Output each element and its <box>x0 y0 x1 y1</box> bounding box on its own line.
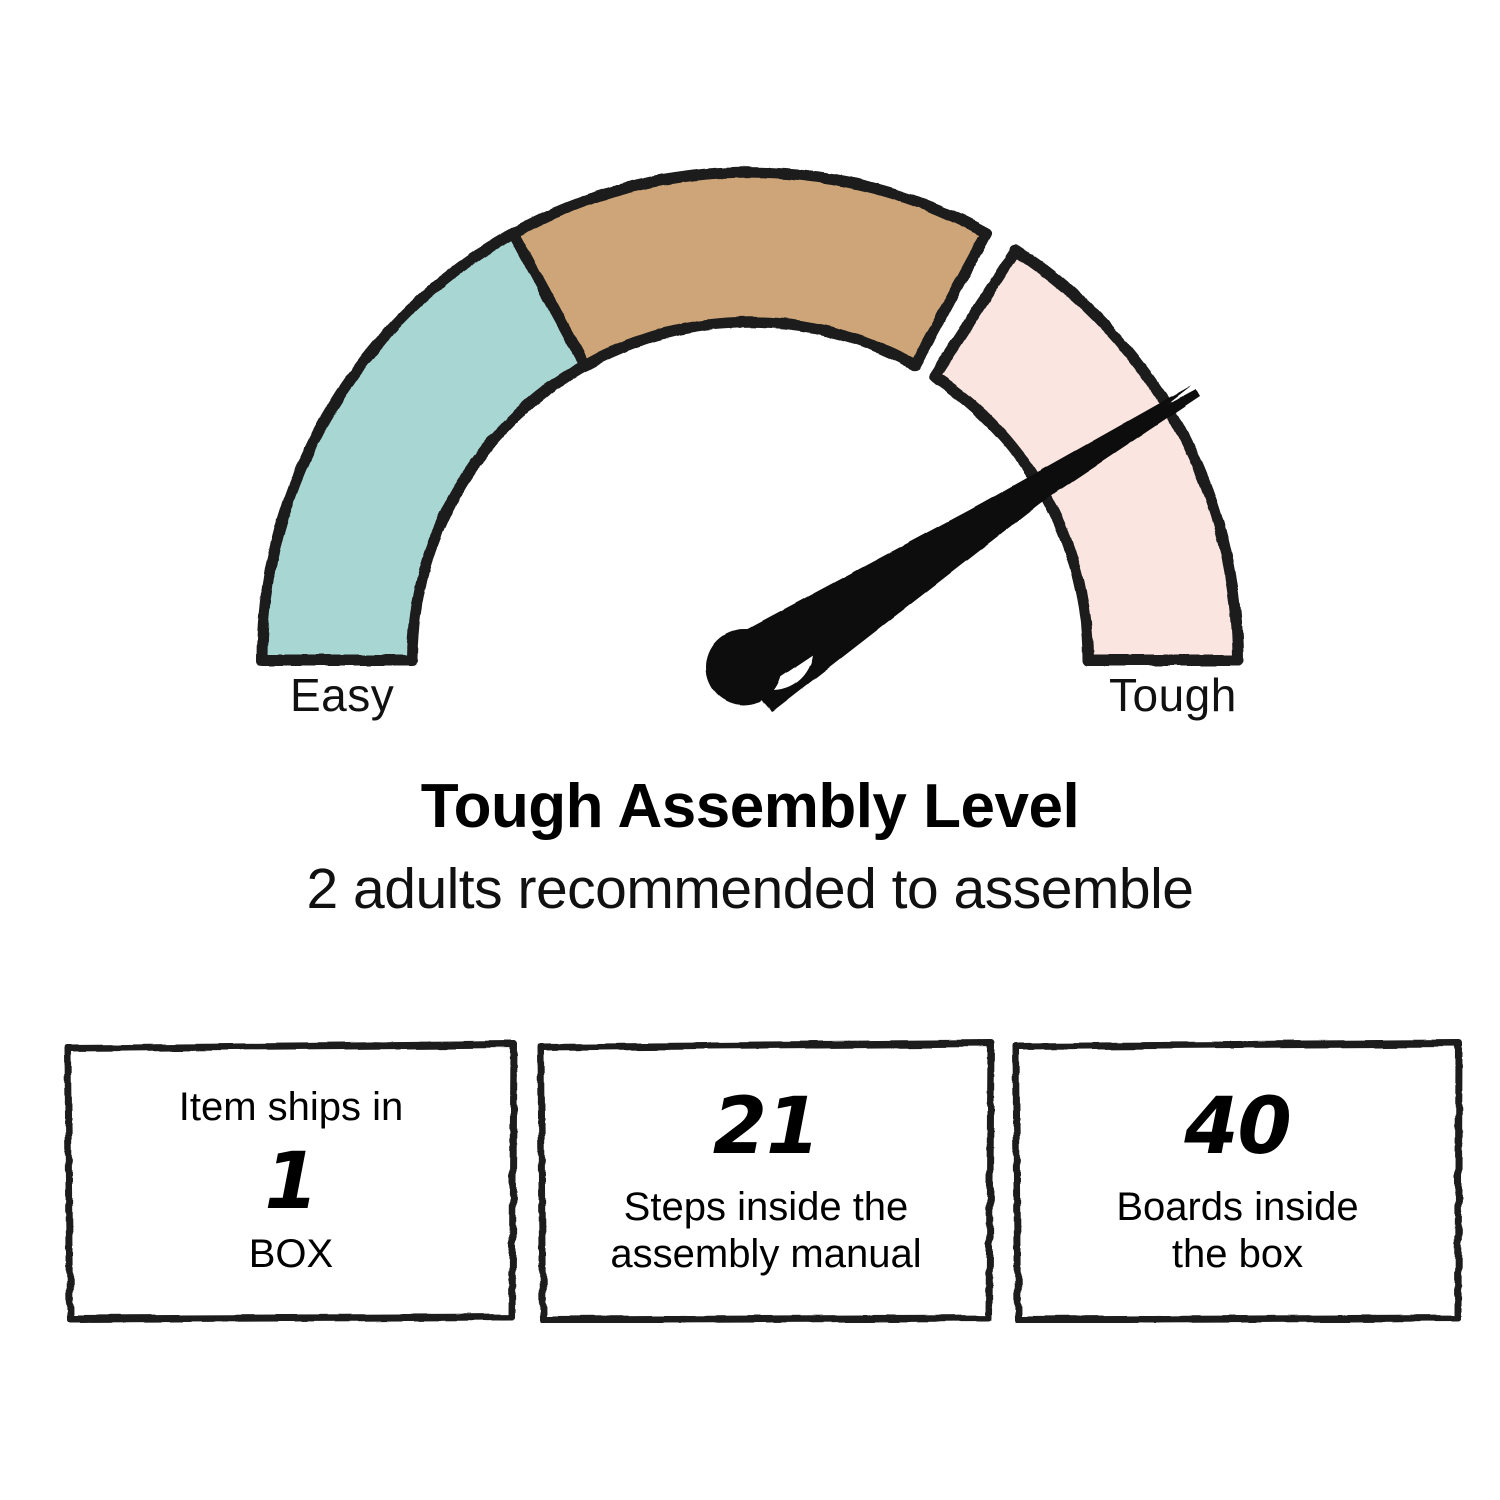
manual-steps-label-line2: assembly manual <box>610 1231 921 1278</box>
assembly-difficulty-gauge <box>0 140 1500 720</box>
gauge-svg <box>0 140 1500 720</box>
boards-count-number: 40 <box>1184 1084 1291 1170</box>
info-box-content-3: 40 Boards inside the box <box>1010 1038 1465 1323</box>
headline-block: Tough Assembly Level 2 adults recommende… <box>0 770 1500 924</box>
page-title: Tough Assembly Level <box>0 770 1500 844</box>
info-box-boards-count: 40 Boards inside the box <box>1010 1038 1465 1323</box>
boards-count-label-line2: the box <box>1172 1231 1303 1278</box>
gauge-min-label: Easy <box>290 668 394 722</box>
info-box-manual-steps: 21 Steps inside the assembly manual <box>535 1038 997 1323</box>
manual-steps-number: 21 <box>713 1084 820 1170</box>
gauge-max-label: Tough <box>1109 668 1237 722</box>
assembly-level-infographic: Easy Tough Tough Assembly Level 2 adults… <box>0 0 1500 1500</box>
info-box-row: Item ships in 1 BOX 21 Steps inside the … <box>0 1038 1500 1338</box>
page-subtitle: 2 adults recommended to assemble <box>0 854 1500 924</box>
ships-in-top-label: Item ships in <box>179 1084 404 1131</box>
ships-in-bottom-label: BOX <box>249 1231 333 1278</box>
ships-in-number: 1 <box>264 1139 317 1225</box>
manual-steps-label-line1: Steps inside the <box>624 1184 909 1231</box>
gauge-segment-moderate <box>513 172 986 365</box>
info-box-content-2: 21 Steps inside the assembly manual <box>535 1038 997 1323</box>
info-box-ships-in: Item ships in 1 BOX <box>62 1038 520 1323</box>
boards-count-label-line1: Boards inside <box>1116 1184 1358 1231</box>
info-box-content-1: Item ships in 1 BOX <box>62 1038 520 1323</box>
